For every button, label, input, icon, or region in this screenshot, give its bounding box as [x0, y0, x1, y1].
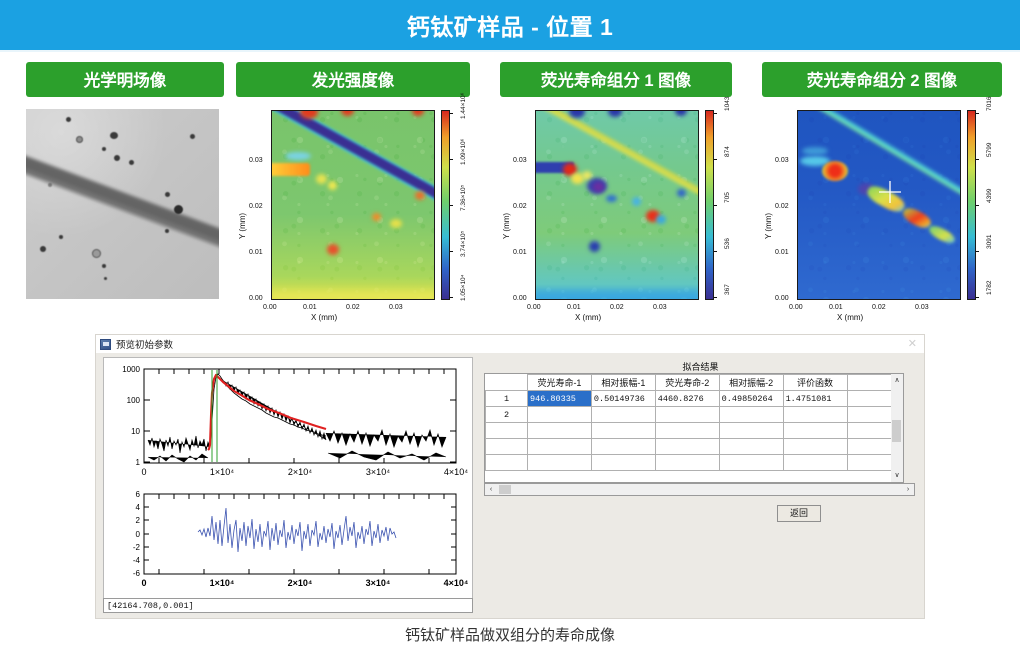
- svg-text:2×10⁴: 2×10⁴: [288, 467, 312, 477]
- colorbar-tick-label: 7.36×10⁵: [460, 185, 467, 211]
- fit-plots-area: 1000 100 10 1: [103, 357, 473, 612]
- svg-text:0: 0: [136, 530, 141, 539]
- table-cell[interactable]: [783, 455, 847, 471]
- brightfield-particle: [190, 134, 195, 139]
- panel-title-lifetime-component-1: 荧光寿命组分 1 图像: [500, 62, 732, 97]
- column-header[interactable]: 相对振幅-1: [591, 375, 655, 391]
- table-cell[interactable]: [528, 423, 592, 439]
- y-axis-title: Y (mm): [502, 213, 511, 239]
- x-tick-label: 0.03: [653, 304, 667, 311]
- svg-text:1×10⁴: 1×10⁴: [210, 467, 234, 477]
- panel-body-lifetime-component-1: Y (mm) 0.00 0.01 0.02 0.03: [500, 109, 732, 321]
- table-cell[interactable]: 1.4751081: [783, 391, 847, 407]
- brightfield-particle: [76, 136, 83, 143]
- table-cell[interactable]: [655, 407, 719, 423]
- colorbar-tick-label: 1782: [986, 281, 993, 295]
- brightfield-particle: [129, 160, 134, 165]
- lifetime-component-1-map[interactable]: [535, 110, 699, 300]
- colorbar-tick-label: 1.44×10⁶: [460, 93, 467, 119]
- table-row[interactable]: 2: [486, 407, 903, 423]
- x-tick-label: 0.03: [389, 304, 403, 311]
- column-header[interactable]: 相对振幅-2: [719, 375, 783, 391]
- scroll-down-arrow[interactable]: ∨: [891, 469, 903, 482]
- x-tick-label: 0.02: [610, 304, 624, 311]
- x-tick-label: 0.00: [263, 304, 277, 311]
- brightfield-image: [26, 109, 219, 299]
- table-cell[interactable]: [591, 439, 655, 455]
- brightfield-particle: [174, 205, 183, 214]
- column-header[interactable]: 荧光寿命-2: [655, 375, 719, 391]
- colorbar-tick-label: 5799: [986, 143, 993, 157]
- x-tick-label: 0.00: [789, 304, 803, 311]
- table-vertical-scrollbar[interactable]: ∧ ∨: [891, 373, 904, 483]
- colorbar-tick-label: 3091: [986, 235, 993, 249]
- svg-text:1000: 1000: [122, 365, 140, 374]
- svg-text:4: 4: [136, 503, 141, 512]
- svg-text:2×10⁴: 2×10⁴: [288, 578, 313, 588]
- x-tick-label: 0.01: [567, 304, 581, 311]
- colorbar-tick-label: 705: [724, 192, 731, 203]
- svg-text:0: 0: [141, 467, 146, 477]
- y-tick-label: 0.02: [775, 203, 789, 210]
- table-cell[interactable]: [528, 407, 592, 423]
- y-axis-title: Y (mm): [764, 213, 773, 239]
- table-cell[interactable]: [528, 455, 592, 471]
- colorbar-luminescence-intensity: [441, 110, 450, 300]
- colorbar-tick-label: 4399: [986, 189, 993, 203]
- svg-text:0: 0: [141, 578, 146, 588]
- table-cell[interactable]: 0.49850264: [719, 391, 783, 407]
- table-cell[interactable]: 0.50149736: [591, 391, 655, 407]
- colorbar-tick-label: 1.05×10⁴: [460, 275, 467, 301]
- brightfield-particle: [102, 147, 106, 151]
- colorbar-tick-label: 367: [724, 284, 731, 295]
- luminescence-intensity-map[interactable]: [271, 110, 435, 300]
- fit-results-area: 拟合结果 荧光寿命-1 相对振幅-1 荧光寿命-2 相对振幅-2 评价函数 1: [482, 357, 919, 612]
- preview-initial-parameters-dialog: 预览初始参数 ✕ 1000 100 10 1: [95, 334, 925, 619]
- table-cell[interactable]: 4460.8276: [655, 391, 719, 407]
- panel-luminescence-intensity: 发光强度像 Y (mm) 0.00 0.01 0.02 0.03: [236, 62, 470, 321]
- table-row[interactable]: [486, 423, 903, 439]
- x-tick-label: 0.01: [303, 304, 317, 311]
- table-horizontal-scrollbar[interactable]: ‹ ›: [484, 483, 915, 496]
- scroll-up-arrow[interactable]: ∧: [891, 374, 903, 387]
- dialog-title-bar[interactable]: 预览初始参数 ✕: [96, 335, 924, 353]
- table-cell[interactable]: [655, 439, 719, 455]
- dialog-title: 预览初始参数: [116, 337, 173, 351]
- y-tick-label: 0.01: [249, 249, 263, 256]
- lifetime-component-2-map[interactable]: [797, 110, 961, 300]
- x-tick-label: 0.02: [872, 304, 886, 311]
- table-row[interactable]: [486, 439, 903, 455]
- vertical-scroll-thumb[interactable]: [892, 420, 901, 442]
- colorbar-tick-label: 3.74×10⁵: [460, 231, 467, 257]
- y-tick-label: 0.00: [775, 295, 789, 302]
- y-tick-label: 0.01: [775, 249, 789, 256]
- svg-text:1: 1: [136, 458, 141, 467]
- y-tick-label: 0.02: [249, 203, 263, 210]
- table-row[interactable]: 1 946.80335 0.50149736 4460.8276 0.49850…: [486, 391, 903, 407]
- table-cell[interactable]: [783, 439, 847, 455]
- brightfield-particle: [165, 229, 169, 233]
- panel-body-lifetime-component-2: Y (mm) 0.00 0.01 0.02 0.03: [762, 109, 1002, 321]
- x-axis-title: X (mm): [575, 313, 601, 322]
- table-cell[interactable]: [719, 423, 783, 439]
- table-header-row: 荧光寿命-1 相对振幅-1 荧光寿命-2 相对振幅-2 评价函数: [486, 375, 903, 391]
- decay-plot[interactable]: 1000 100 10 1: [104, 361, 472, 481]
- y-axis-title: Y (mm): [238, 213, 247, 239]
- close-icon[interactable]: ✕: [905, 339, 920, 350]
- row-index: 2: [486, 407, 528, 423]
- table-cell[interactable]: [591, 407, 655, 423]
- y-tick-label: 0.03: [249, 157, 263, 164]
- y-tick-label: 0.01: [513, 249, 527, 256]
- y-tick-label: 0.00: [513, 295, 527, 302]
- svg-text:4×10⁴: 4×10⁴: [444, 578, 469, 588]
- horizontal-scroll-thumb[interactable]: [499, 485, 511, 494]
- table-row[interactable]: [486, 455, 903, 471]
- row-index: 1: [486, 391, 528, 407]
- svg-text:10: 10: [131, 427, 140, 436]
- scroll-left-arrow[interactable]: ‹: [485, 484, 497, 495]
- table-cell[interactable]: [591, 423, 655, 439]
- table-cell[interactable]: [719, 439, 783, 455]
- brightfield-particle: [66, 117, 71, 122]
- table-cell[interactable]: [719, 407, 783, 423]
- svg-text:-4: -4: [133, 556, 141, 565]
- table-cell[interactable]: [655, 423, 719, 439]
- table-cell[interactable]: [783, 407, 847, 423]
- brightfield-particle: [59, 235, 63, 239]
- fit-results-grid[interactable]: 荧光寿命-1 相对振幅-1 荧光寿命-2 相对振幅-2 评价函数 1 946.8…: [484, 373, 902, 483]
- svg-text:2: 2: [136, 516, 141, 525]
- svg-text:3×10⁴: 3×10⁴: [366, 467, 390, 477]
- brightfield-particle: [110, 132, 118, 139]
- y-tick-label: 0.03: [775, 157, 789, 164]
- x-axis-title: X (mm): [311, 313, 337, 322]
- svg-text:1×10⁴: 1×10⁴: [210, 578, 235, 588]
- table-cell[interactable]: [719, 455, 783, 471]
- colorbar-tick-label: 1.09×10⁶: [460, 139, 467, 165]
- colorbar-lifetime-component-2: [967, 110, 976, 300]
- column-header[interactable]: 评价函数: [783, 375, 847, 391]
- row-index-header: [486, 375, 528, 391]
- panel-lifetime-component-1: 荧光寿命组分 1 图像 Y (mm) 0.00 0.01 0.02 0.03: [500, 62, 732, 321]
- image-panel-row: 光学明场像: [0, 62, 1020, 327]
- back-button[interactable]: 返回: [777, 505, 821, 522]
- page-title: 钙钛矿样品 - 位置 1: [407, 8, 614, 42]
- figure-caption: 钙钛矿样品做双组分的寿命成像: [0, 624, 1020, 645]
- table-cell[interactable]: [783, 423, 847, 439]
- y-tick-label: 0.03: [513, 157, 527, 164]
- x-tick-label: 0.02: [346, 304, 360, 311]
- column-header[interactable]: 荧光寿命-1: [528, 375, 592, 391]
- brightfield-particle: [40, 246, 46, 252]
- x-axis-title: X (mm): [837, 313, 863, 322]
- table-cell[interactable]: [655, 455, 719, 471]
- panel-body-luminescence-intensity: Y (mm) 0.00 0.01 0.02 0.03: [236, 109, 470, 321]
- table-cell[interactable]: [528, 439, 592, 455]
- window-icon: [100, 339, 111, 350]
- coordinate-status-bar: [42164.708,0.001]: [103, 598, 473, 613]
- panel-title-lifetime-component-2: 荧光寿命组分 2 图像: [762, 62, 1002, 97]
- brightfield-particle: [48, 183, 52, 187]
- brightfield-particle: [92, 249, 101, 258]
- table-cell-selected[interactable]: 946.80335: [528, 391, 592, 407]
- row-index: [486, 455, 528, 471]
- colorbar-tick-label: 7016: [986, 97, 993, 111]
- crosshair-cursor: [879, 181, 901, 203]
- panel-lifetime-component-2: 荧光寿命组分 2 图像 Y (mm) 0.00 0.01 0.02 0.03: [762, 62, 1002, 321]
- x-tick-label: 0.03: [915, 304, 929, 311]
- brightfield-particle: [165, 192, 170, 197]
- brightfield-particle: [114, 155, 120, 161]
- x-tick-label: 0.01: [829, 304, 843, 311]
- row-index: [486, 439, 528, 455]
- brightfield-particle: [104, 277, 107, 280]
- svg-text:-6: -6: [133, 569, 141, 578]
- window-title-bar: 钙钛矿样品 - 位置 1: [0, 0, 1020, 52]
- row-index: [486, 423, 528, 439]
- svg-text:6: 6: [136, 490, 141, 499]
- x-tick-label: 0.00: [527, 304, 541, 311]
- fit-results-title: 拟合结果: [482, 360, 919, 373]
- colorbar-tick-label: 536: [724, 238, 731, 249]
- panel-title-optical-brightfield: 光学明场像: [26, 62, 224, 97]
- brightfield-particle: [102, 264, 106, 268]
- scroll-right-arrow[interactable]: ›: [902, 484, 914, 495]
- panel-optical-brightfield: 光学明场像: [26, 62, 224, 299]
- colorbar-tick-label: 1043: [724, 97, 731, 111]
- svg-text:3×10⁴: 3×10⁴: [366, 578, 391, 588]
- residual-plot[interactable]: 6 4 2 0 -2 -4 -6: [104, 486, 472, 598]
- panel-title-luminescence-intensity: 发光强度像: [236, 62, 470, 97]
- svg-text:100: 100: [127, 396, 141, 405]
- svg-text:4×10⁴: 4×10⁴: [444, 467, 468, 477]
- y-tick-label: 0.00: [249, 295, 263, 302]
- colorbar-tick-label: 874: [724, 146, 731, 157]
- y-tick-label: 0.02: [513, 203, 527, 210]
- panel-body-optical-brightfield: [26, 109, 224, 299]
- colorbar-lifetime-component-1: [705, 110, 714, 300]
- svg-text:-2: -2: [133, 543, 141, 552]
- table-cell[interactable]: [591, 455, 655, 471]
